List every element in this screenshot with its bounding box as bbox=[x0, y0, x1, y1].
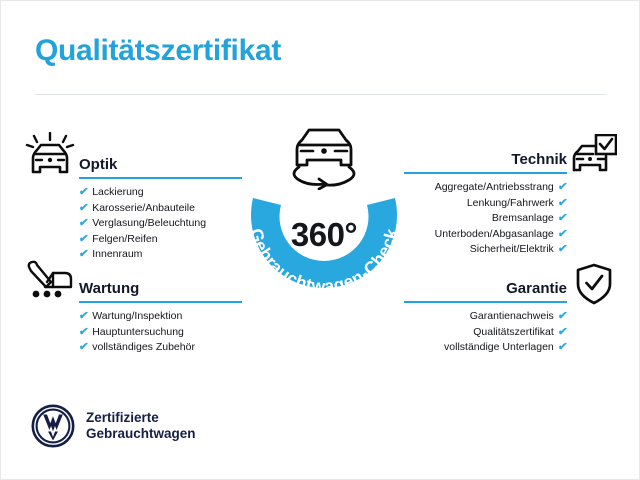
section-wartung: Wartung ✔Wartung/Inspektion ✔Hauptunters… bbox=[79, 271, 242, 356]
badge-center-label: 360° bbox=[227, 216, 421, 254]
list-item: vollständige Unterlagen✔ bbox=[404, 340, 567, 356]
list-item-label: Aggregate/Antriebsstrang bbox=[435, 180, 554, 196]
page-title: Qualitätszertifikat bbox=[35, 34, 281, 68]
check-icon: ✔ bbox=[78, 218, 89, 229]
check-icon: ✔ bbox=[557, 198, 568, 209]
certificate-page: Qualitätszertifikat bbox=[0, 0, 640, 480]
section-optik-header: Optik bbox=[79, 147, 242, 173]
section-optik-title: Optik bbox=[79, 157, 117, 173]
check-icon: ✔ bbox=[78, 342, 89, 353]
check-icon: ✔ bbox=[78, 187, 89, 198]
list-item: ✔Hauptuntersuchung bbox=[79, 325, 242, 341]
list-item-label: Sicherheit/Elektrik bbox=[470, 242, 554, 258]
list-item-label: Hauptuntersuchung bbox=[92, 325, 184, 341]
list-item: Aggregate/Antriebsstrang✔ bbox=[404, 180, 567, 196]
list-item: ✔Lackierung bbox=[79, 185, 242, 201]
list-item: ✔Felgen/Reifen bbox=[79, 232, 242, 248]
list-item-label: Qualitätszertifikat bbox=[473, 325, 554, 341]
footer-brand-text: Zertifizierte Gebrauchtwagen bbox=[86, 410, 196, 442]
check-icon: ✔ bbox=[78, 311, 89, 322]
section-garantie: Garantie Garantienachweis✔ Qualitätszert… bbox=[404, 271, 567, 356]
car-front-rotation-icon bbox=[283, 118, 365, 195]
badge-360-gebrauchtwagen-check: Gebrauchtwagen-Check bbox=[227, 120, 421, 314]
list-item: Bremsanlage✔ bbox=[404, 211, 567, 227]
list-item-label: Bremsanlage bbox=[492, 211, 554, 227]
check-icon: ✔ bbox=[557, 311, 568, 322]
check-icon: ✔ bbox=[557, 342, 568, 353]
check-icon: ✔ bbox=[557, 327, 568, 338]
list-item: Unterboden/Abgasanlage✔ bbox=[404, 227, 567, 243]
footer-line-2: Gebrauchtwagen bbox=[86, 426, 196, 442]
list-item-label: Felgen/Reifen bbox=[92, 232, 157, 248]
check-icon: ✔ bbox=[78, 249, 89, 260]
section-garantie-title: Garantie bbox=[506, 281, 567, 297]
list-item: Qualitätszertifikat✔ bbox=[404, 325, 567, 341]
footer-brand: Zertifizierte Gebrauchtwagen bbox=[31, 404, 196, 448]
list-item-label: Innenraum bbox=[92, 247, 142, 263]
check-icon: ✔ bbox=[78, 203, 89, 214]
section-garantie-list: Garantienachweis✔ Qualitätszertifikat✔ v… bbox=[404, 309, 567, 356]
check-icon: ✔ bbox=[557, 182, 568, 193]
section-technik-list: Aggregate/Antriebsstrang✔ Lenkung/Fahrwe… bbox=[404, 180, 567, 258]
section-wartung-title: Wartung bbox=[79, 281, 139, 297]
shield-check-icon bbox=[574, 262, 614, 311]
section-optik-divider bbox=[79, 177, 242, 179]
list-item-label: Verglasung/Beleuchtung bbox=[92, 216, 206, 232]
vw-logo bbox=[31, 404, 75, 448]
list-item-label: Karosserie/Anbauteile bbox=[92, 201, 195, 217]
section-wartung-list: ✔Wartung/Inspektion ✔Hauptuntersuchung ✔… bbox=[79, 309, 242, 356]
list-item-label: Unterboden/Abgasanlage bbox=[435, 227, 554, 243]
list-item: ✔vollständiges Zubehör bbox=[79, 340, 242, 356]
list-item-label: vollständige Unterlagen bbox=[444, 340, 554, 356]
list-item: ✔Karosserie/Anbauteile bbox=[79, 201, 242, 217]
list-item: Garantienachweis✔ bbox=[404, 309, 567, 325]
list-item-label: Garantienachweis bbox=[470, 309, 554, 325]
check-icon: ✔ bbox=[557, 244, 568, 255]
list-item: Sicherheit/Elektrik✔ bbox=[404, 242, 567, 258]
list-item-label: Lackierung bbox=[92, 185, 143, 201]
section-technik-header: Technik bbox=[404, 142, 567, 168]
car-checkbox-icon bbox=[569, 134, 617, 181]
section-technik-divider bbox=[404, 172, 567, 174]
list-item: ✔Verglasung/Beleuchtung bbox=[79, 216, 242, 232]
car-front-shine-icon bbox=[25, 132, 75, 182]
list-item: Lenkung/Fahrwerk✔ bbox=[404, 196, 567, 212]
section-optik: Optik ✔Lackierung ✔Karosserie/Anbauteile… bbox=[79, 147, 242, 263]
section-technik: Technik Aggregate/Antriebsstrang✔ Lenkun… bbox=[404, 142, 567, 258]
check-icon: ✔ bbox=[78, 327, 89, 338]
footer-line-1: Zertifizierte bbox=[86, 410, 196, 426]
title-divider bbox=[35, 94, 607, 95]
section-garantie-divider bbox=[404, 301, 567, 303]
check-icon: ✔ bbox=[78, 234, 89, 245]
section-wartung-header: Wartung bbox=[79, 271, 242, 297]
list-item-label: vollständiges Zubehör bbox=[92, 340, 195, 356]
section-garantie-header: Garantie bbox=[404, 271, 567, 297]
section-optik-list: ✔Lackierung ✔Karosserie/Anbauteile ✔Verg… bbox=[79, 185, 242, 263]
wrench-car-service-icon bbox=[25, 260, 75, 310]
list-item-label: Lenkung/Fahrwerk bbox=[467, 196, 554, 212]
list-item: ✔Wartung/Inspektion bbox=[79, 309, 242, 325]
check-icon: ✔ bbox=[557, 229, 568, 240]
section-wartung-divider bbox=[79, 301, 242, 303]
section-technik-title: Technik bbox=[511, 152, 567, 168]
check-icon: ✔ bbox=[557, 213, 568, 224]
list-item-label: Wartung/Inspektion bbox=[92, 309, 182, 325]
list-item: ✔Innenraum bbox=[79, 247, 242, 263]
